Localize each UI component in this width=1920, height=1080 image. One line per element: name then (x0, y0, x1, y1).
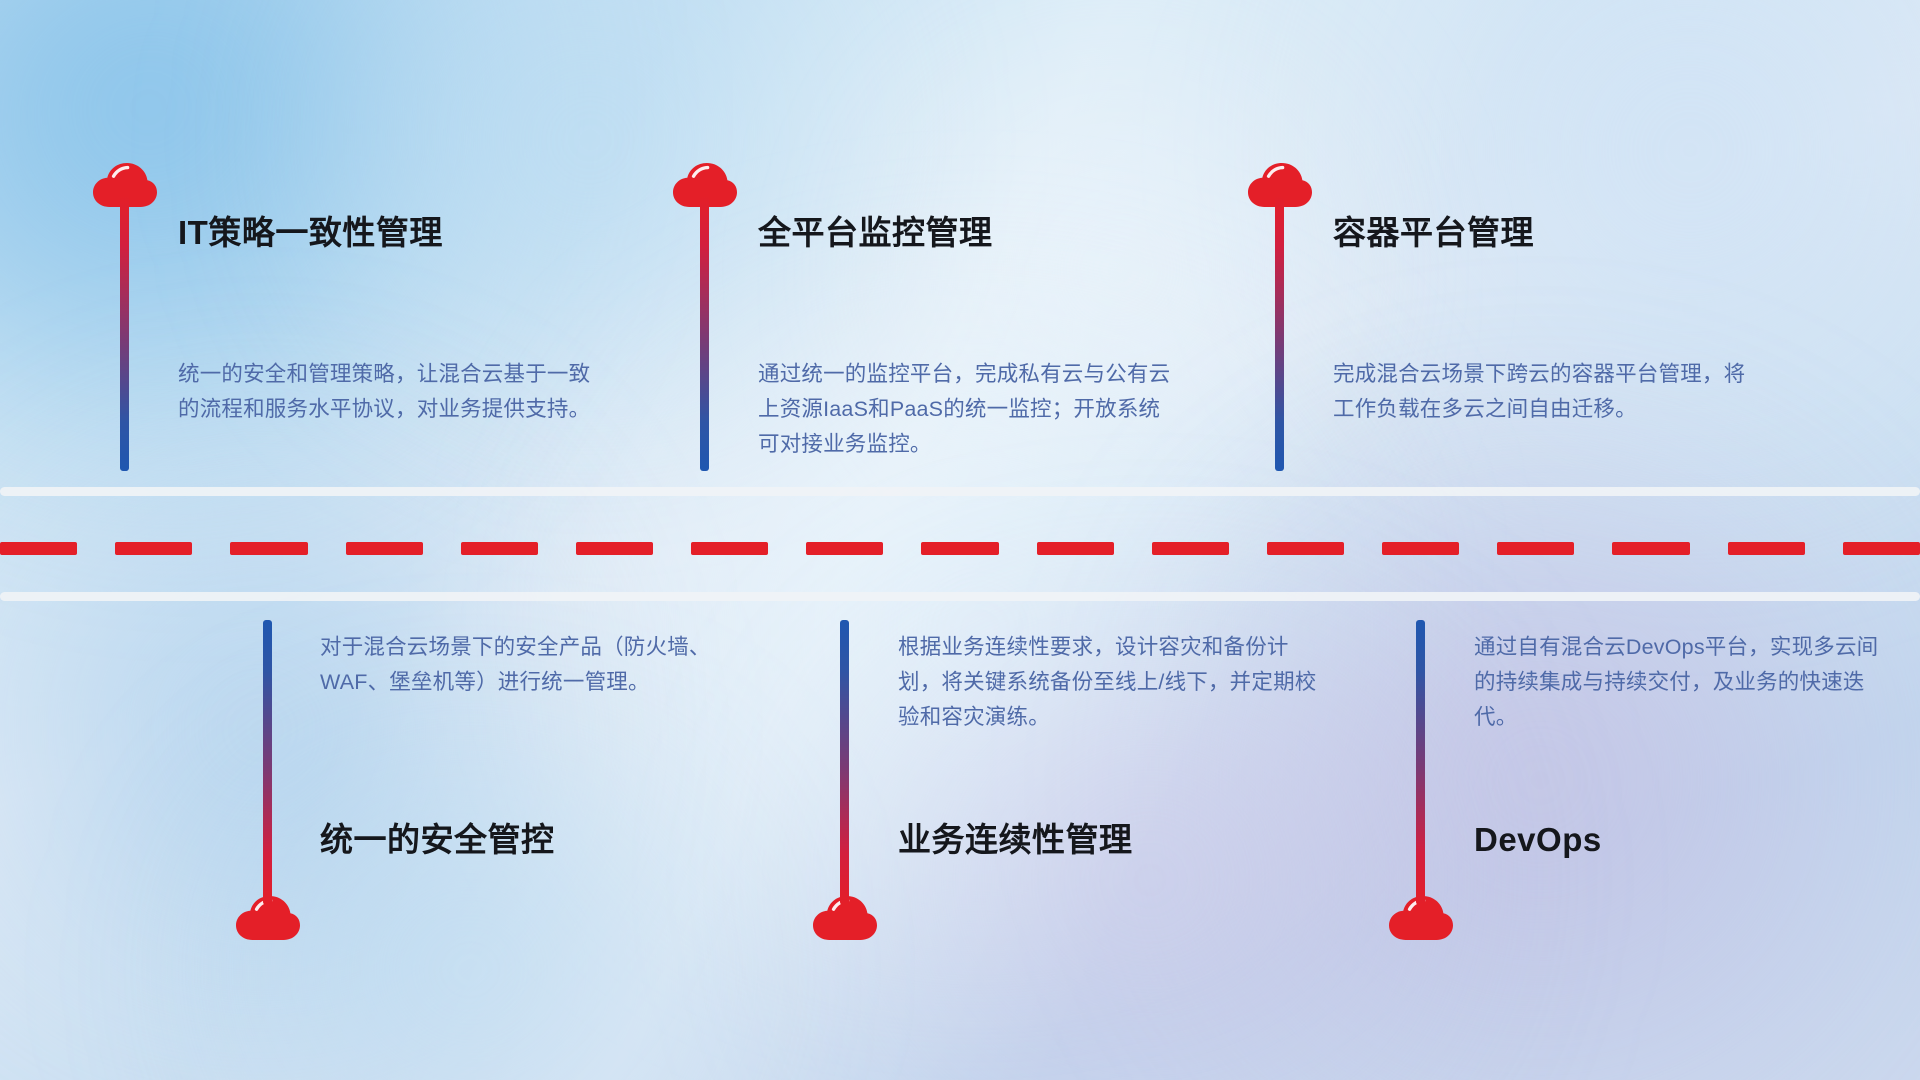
road-dash (921, 542, 998, 555)
road-dash (0, 542, 77, 555)
connector-stem (1416, 620, 1425, 905)
road-dash (1037, 542, 1114, 555)
road-dash (1267, 542, 1344, 555)
infographic-canvas: IT策略一致性管理 统一的安全和管理策略，让混合云基于一致的流程和服务水平协议，… (0, 0, 1920, 1080)
connector-stem (1275, 196, 1284, 471)
feature-body: 完成混合云场景下跨云的容器平台管理，将工作负载在多云之间自由迁移。 (1333, 357, 1753, 427)
road-dash (1612, 542, 1689, 555)
feature-body: 通过统一的监控平台，完成私有云与公有云上资源IaaS和PaaS的统一监控；开放系… (758, 357, 1178, 462)
connector-stem (840, 620, 849, 905)
road-dash (691, 542, 768, 555)
road-dash (1152, 542, 1229, 555)
connector-stem (263, 620, 272, 905)
road-dash (576, 542, 653, 555)
road-dash (1497, 542, 1574, 555)
road-dash (346, 542, 423, 555)
road-dash (461, 542, 538, 555)
feature-body: 根据业务连续性要求，设计容灾和备份计划，将关键系统备份至线上/线下，并定期校验和… (898, 630, 1318, 735)
feature-heading: 全平台监控管理 (758, 213, 993, 253)
road-dash (1728, 542, 1805, 555)
divider-line-bottom (0, 592, 1920, 601)
divider-line-top (0, 487, 1920, 496)
connector-stem (120, 196, 129, 471)
feature-heading: DevOps (1474, 820, 1602, 860)
connector-stem (700, 196, 709, 471)
road-dash (1843, 542, 1920, 555)
feature-heading: 统一的安全管控 (320, 820, 555, 860)
feature-heading: 业务连续性管理 (898, 820, 1133, 860)
feature-heading: 容器平台管理 (1333, 213, 1534, 253)
feature-body: 统一的安全和管理策略，让混合云基于一致的流程和服务水平协议，对业务提供支持。 (178, 357, 598, 427)
feature-heading: IT策略一致性管理 (178, 213, 443, 253)
dashed-road-divider (0, 542, 1920, 555)
road-dash (115, 542, 192, 555)
feature-body: 对于混合云场景下的安全产品（防火墙、WAF、堡垒机等）进行统一管理。 (320, 630, 740, 700)
road-dash (230, 542, 307, 555)
road-dash (1382, 542, 1459, 555)
feature-body: 通过自有混合云DevOps平台，实现多云间的持续集成与持续交付，及业务的快速迭代… (1474, 630, 1894, 735)
road-dash (806, 542, 883, 555)
